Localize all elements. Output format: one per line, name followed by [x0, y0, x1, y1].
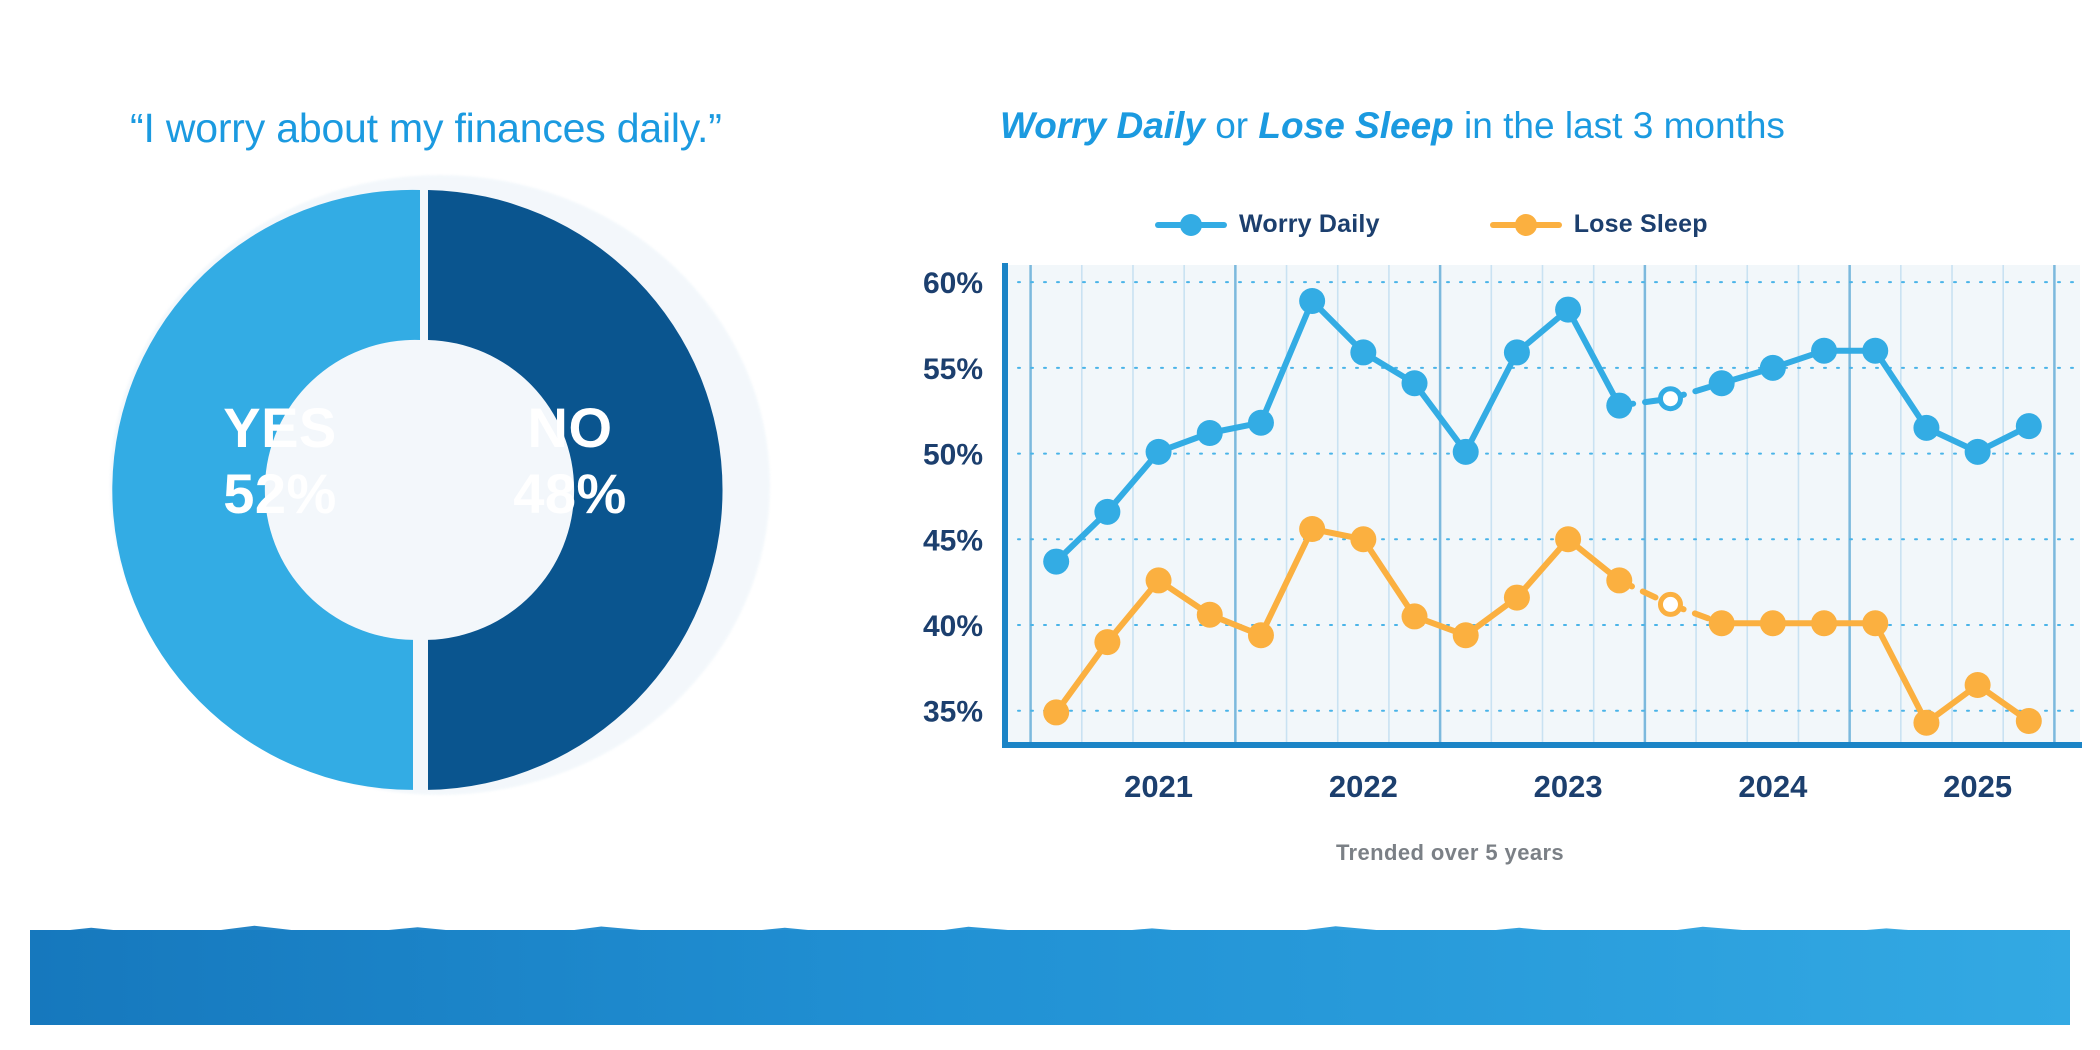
x-tick-label: 2021 [1124, 769, 1193, 804]
data-point[interactable] [1248, 410, 1274, 436]
y-tick-label: 35% [923, 696, 983, 729]
data-point[interactable] [1350, 339, 1376, 365]
data-point[interactable] [1248, 622, 1274, 648]
title-emphasis-sleep: Lose Sleep [1258, 105, 1453, 146]
data-point[interactable] [1043, 699, 1069, 725]
y-tick-label: 55% [923, 353, 983, 386]
footer-band: THE STATE OF PERSONAL FINANCE IN AMERICA… [30, 930, 2070, 1025]
data-point[interactable] [1453, 622, 1479, 648]
donut-label-no-text: NO [485, 400, 655, 456]
donut-label-yes-value: 52% [195, 466, 365, 522]
x-tick-label: 2022 [1329, 769, 1398, 804]
legend-marker-icon-sleep [1490, 214, 1562, 236]
y-tick-label: 40% [923, 610, 983, 643]
title-tail: in the last 3 months [1454, 105, 1785, 146]
y-axis-tick-labels: 35%40%45%50%55%60% [923, 267, 983, 729]
legend-item-lose-sleep[interactable]: Lose Sleep [1490, 210, 1708, 239]
data-point[interactable] [1555, 297, 1581, 323]
legend-label-worry: Worry Daily [1239, 210, 1380, 239]
title-connector: or [1205, 105, 1258, 146]
data-point[interactable] [1453, 439, 1479, 465]
chart-legend: Worry Daily Lose Sleep [1155, 210, 1708, 239]
title-emphasis-worry: Worry Daily [1000, 105, 1205, 146]
data-point[interactable] [1913, 415, 1939, 441]
donut-chart: YES 52% NO 48% [110, 180, 730, 800]
data-point[interactable] [1913, 710, 1939, 736]
infographic-page: “I worry about my finances daily.” YES 5… [0, 0, 2100, 1050]
donut-label-no-value: 48% [485, 466, 655, 522]
data-point[interactable] [1709, 610, 1735, 636]
data-point[interactable] [1146, 439, 1172, 465]
data-point[interactable] [1862, 610, 1888, 636]
data-point[interactable] [1555, 526, 1581, 552]
legend-marker-icon-worry [1155, 214, 1227, 236]
donut-panel: “I worry about my finances daily.” YES 5… [0, 0, 800, 940]
legend-item-worry-daily[interactable]: Worry Daily [1155, 210, 1380, 239]
data-point[interactable] [1606, 393, 1632, 419]
data-point[interactable] [1760, 610, 1786, 636]
legend-label-sleep: Lose Sleep [1574, 210, 1708, 239]
data-point[interactable] [1350, 526, 1376, 552]
data-point[interactable] [1965, 672, 1991, 698]
x-axis-tick-labels: 20212022202320242025 [1124, 769, 2012, 804]
data-point-estimated[interactable] [1660, 389, 1680, 409]
data-point[interactable] [1402, 370, 1428, 396]
data-point[interactable] [2016, 413, 2042, 439]
x-tick-label: 2025 [1943, 769, 2012, 804]
chart-caption: Trended over 5 years [800, 840, 2100, 866]
donut-label-no: NO 48% [485, 400, 655, 522]
right-panel-title: Worry Daily or Lose Sleep in the last 3 … [1000, 105, 1785, 147]
left-panel-title: “I worry about my finances daily.” [130, 105, 790, 152]
data-point[interactable] [1709, 370, 1735, 396]
y-tick-label: 45% [923, 524, 983, 557]
line-chart: 35%40%45%50%55%60% 20212022202320242025 [800, 255, 2100, 815]
donut-label-yes: YES 52% [195, 400, 365, 522]
y-tick-label: 50% [923, 439, 983, 472]
data-point[interactable] [1862, 338, 1888, 364]
data-point[interactable] [1811, 610, 1837, 636]
data-point[interactable] [1402, 603, 1428, 629]
data-point[interactable] [1299, 288, 1325, 314]
data-point[interactable] [1094, 499, 1120, 525]
x-tick-label: 2023 [1534, 769, 1603, 804]
data-point[interactable] [1811, 338, 1837, 364]
x-tick-label: 2024 [1738, 769, 1808, 804]
data-point[interactable] [1197, 420, 1223, 446]
data-point[interactable] [1504, 585, 1530, 611]
data-point[interactable] [1504, 339, 1530, 365]
y-tick-label: 60% [923, 267, 983, 300]
line-chart-svg: 35%40%45%50%55%60% 20212022202320242025 [800, 255, 2100, 815]
data-point[interactable] [1197, 602, 1223, 628]
data-point[interactable] [2016, 708, 2042, 734]
donut-label-yes-text: YES [195, 400, 365, 456]
data-point[interactable] [1965, 439, 1991, 465]
data-point[interactable] [1760, 355, 1786, 381]
data-point[interactable] [1094, 629, 1120, 655]
data-point[interactable] [1606, 567, 1632, 593]
data-point-estimated[interactable] [1660, 594, 1680, 614]
data-point[interactable] [1043, 549, 1069, 575]
line-chart-panel: Worry Daily or Lose Sleep in the last 3 … [800, 0, 2100, 940]
data-point[interactable] [1299, 516, 1325, 542]
data-point[interactable] [1146, 567, 1172, 593]
